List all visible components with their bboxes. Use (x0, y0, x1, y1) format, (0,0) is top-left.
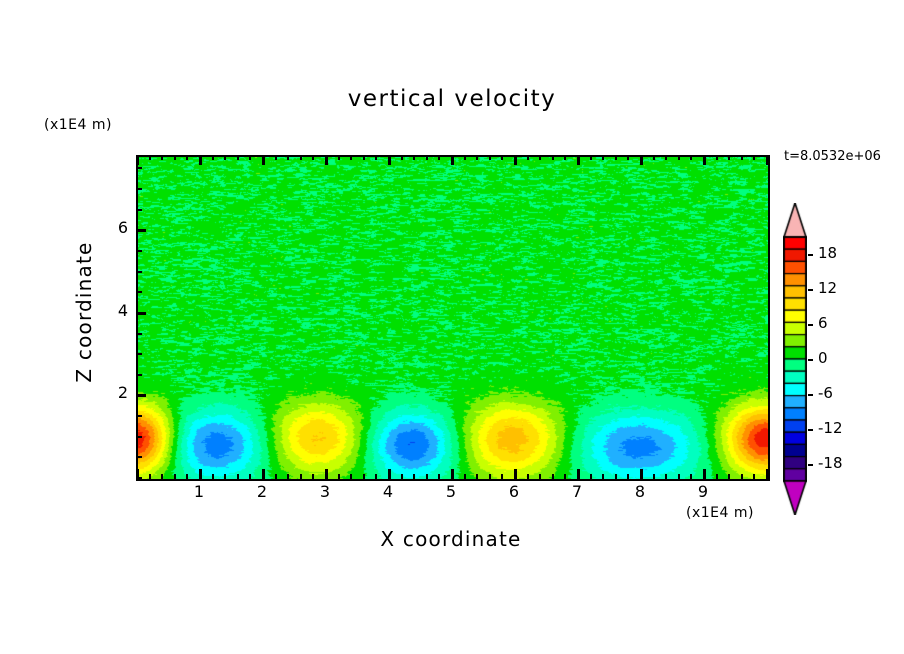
colorbar-ticklabel: 12 (818, 279, 837, 297)
timestamp-annotation: t=8.0532e+06 (784, 149, 881, 164)
x-minor-tick (401, 474, 403, 479)
x-ticklabel: 6 (499, 482, 529, 501)
y-axis-title: Z coordinate (72, 212, 96, 412)
x-minor-tick (690, 474, 692, 479)
x-minor-tick-top (552, 155, 554, 160)
x-minor-tick-top (413, 155, 415, 160)
colorbar-tick (808, 324, 813, 326)
x-major-tick-top (703, 155, 706, 165)
x-major-tick (325, 469, 328, 479)
x-major-tick (577, 469, 580, 479)
x-minor-tick (501, 474, 503, 479)
x-minor-tick (627, 474, 629, 479)
x-minor-tick (527, 474, 529, 479)
x-minor-tick (564, 474, 566, 479)
x-minor-tick-top (728, 155, 730, 160)
x-minor-tick-top (338, 155, 340, 160)
y-minor-tick (136, 353, 142, 355)
x-minor-tick-top (489, 155, 491, 160)
y-minor-tick (136, 477, 142, 479)
x-minor-tick (539, 474, 541, 479)
x-ticklabel: 7 (562, 482, 592, 501)
x-minor-tick-top (237, 155, 239, 160)
y-minor-tick (136, 250, 142, 252)
colorbar-tick (808, 289, 813, 291)
x-minor-tick-top (464, 155, 466, 160)
contour-field-canvas (138, 157, 768, 479)
y-minor-tick (136, 167, 142, 169)
x-minor-tick-top (426, 155, 428, 160)
y-major-tick (136, 312, 146, 315)
x-ticklabel: 2 (247, 482, 277, 501)
page-title: vertical velocity (0, 86, 904, 112)
x-minor-tick (375, 474, 377, 479)
x-ticklabel: 4 (373, 482, 403, 501)
x-minor-tick (224, 474, 226, 479)
x-minor-tick-top (287, 155, 289, 160)
y-minor-tick (136, 374, 142, 376)
x-major-tick-top (199, 155, 202, 165)
colorbar-tick (808, 394, 813, 396)
x-minor-tick (590, 474, 592, 479)
colorbar-tick (808, 464, 813, 466)
x-minor-tick-top (501, 155, 503, 160)
x-major-tick-top (640, 155, 643, 165)
x-minor-tick (287, 474, 289, 479)
x-minor-tick-top (476, 155, 478, 160)
x-minor-tick (426, 474, 428, 479)
contour-figure: vertical velocity (x1E4 m) (x1E4 m) t=8.… (0, 0, 904, 654)
y-minor-tick (136, 271, 142, 273)
colorbar-ticklabel: -12 (818, 419, 843, 437)
x-major-tick-top (514, 155, 517, 165)
x-minor-tick-top (300, 155, 302, 160)
colorbar-ticklabel: 0 (818, 349, 828, 367)
y-minor-tick (136, 333, 142, 335)
x-major-tick-top (577, 155, 580, 165)
x-minor-tick-top (753, 155, 755, 160)
x-minor-tick (665, 474, 667, 479)
colorbar-tick (808, 254, 813, 256)
y-minor-tick (136, 415, 142, 417)
x-major-tick (388, 469, 391, 479)
x-minor-tick-top (186, 155, 188, 160)
x-minor-tick (653, 474, 655, 479)
x-minor-tick (615, 474, 617, 479)
colorbar (783, 203, 807, 515)
x-minor-tick-top (653, 155, 655, 160)
x-minor-tick (237, 474, 239, 479)
x-major-tick-top (451, 155, 454, 165)
x-minor-tick-top (741, 155, 743, 160)
x-major-tick-top (325, 155, 328, 165)
x-minor-tick-top (438, 155, 440, 160)
x-minor-tick-top (539, 155, 541, 160)
plot-area (136, 155, 770, 481)
x-minor-tick-top (716, 155, 718, 160)
x-minor-tick (186, 474, 188, 479)
y-minor-tick (136, 291, 142, 293)
x-minor-tick-top (312, 155, 314, 160)
x-major-tick (451, 469, 454, 479)
x-minor-tick-top (527, 155, 529, 160)
x-axis-unit-label: (x1E4 m) (686, 505, 754, 521)
x-minor-tick-top (590, 155, 592, 160)
y-minor-tick (136, 188, 142, 190)
x-minor-tick (338, 474, 340, 479)
x-minor-tick-top (564, 155, 566, 160)
x-minor-tick (350, 474, 352, 479)
x-minor-tick (275, 474, 277, 479)
x-axis-title: X coordinate (136, 527, 766, 551)
x-minor-tick-top (690, 155, 692, 160)
x-minor-tick-top (401, 155, 403, 160)
x-minor-tick (716, 474, 718, 479)
x-minor-tick (552, 474, 554, 479)
y-ticklabel: 4 (104, 301, 128, 320)
colorbar-canvas (783, 203, 807, 515)
colorbar-ticklabel: 6 (818, 314, 828, 332)
x-minor-tick-top (275, 155, 277, 160)
x-minor-tick (602, 474, 604, 479)
x-ticklabel: 3 (310, 482, 340, 501)
x-minor-tick (149, 474, 151, 479)
y-ticklabel: 2 (104, 383, 128, 402)
x-minor-tick (678, 474, 680, 479)
x-major-tick (640, 469, 643, 479)
x-minor-tick-top (627, 155, 629, 160)
y-major-tick (136, 394, 146, 397)
x-minor-tick-top (249, 155, 251, 160)
x-minor-tick (476, 474, 478, 479)
y-minor-tick (136, 209, 142, 211)
y-minor-tick (136, 456, 142, 458)
x-minor-tick-top (678, 155, 680, 160)
x-minor-tick (438, 474, 440, 479)
x-minor-tick (489, 474, 491, 479)
y-axis-unit-label: (x1E4 m) (44, 117, 112, 133)
x-minor-tick-top (615, 155, 617, 160)
x-major-tick (766, 469, 769, 479)
x-minor-tick (728, 474, 730, 479)
x-minor-tick-top (665, 155, 667, 160)
x-minor-tick (249, 474, 251, 479)
x-minor-tick (212, 474, 214, 479)
x-major-tick (199, 469, 202, 479)
x-minor-tick (753, 474, 755, 479)
x-ticklabel: 8 (625, 482, 655, 501)
y-ticklabel: 6 (104, 218, 128, 237)
colorbar-ticklabel: 18 (818, 244, 837, 262)
x-ticklabel: 9 (688, 482, 718, 501)
x-minor-tick (300, 474, 302, 479)
y-minor-tick (136, 436, 142, 438)
x-minor-tick (464, 474, 466, 479)
x-minor-tick-top (224, 155, 226, 160)
x-minor-tick-top (602, 155, 604, 160)
x-minor-tick-top (149, 155, 151, 160)
x-major-tick (703, 469, 706, 479)
x-major-tick-top (136, 155, 139, 165)
x-minor-tick (312, 474, 314, 479)
x-major-tick (514, 469, 517, 479)
x-major-tick-top (262, 155, 265, 165)
x-minor-tick-top (375, 155, 377, 160)
x-minor-tick-top (161, 155, 163, 160)
colorbar-ticklabel: -6 (818, 384, 833, 402)
colorbar-ticklabel: -18 (818, 454, 843, 472)
x-ticklabel: 1 (184, 482, 214, 501)
x-major-tick-top (766, 155, 769, 165)
y-major-tick (136, 229, 146, 232)
x-major-tick-top (388, 155, 391, 165)
colorbar-tick (808, 359, 813, 361)
x-minor-tick (413, 474, 415, 479)
x-ticklabel: 5 (436, 482, 466, 501)
x-minor-tick (161, 474, 163, 479)
x-minor-tick-top (363, 155, 365, 160)
x-major-tick (262, 469, 265, 479)
x-minor-tick-top (212, 155, 214, 160)
x-minor-tick (741, 474, 743, 479)
x-minor-tick-top (174, 155, 176, 160)
x-minor-tick (174, 474, 176, 479)
x-minor-tick-top (350, 155, 352, 160)
x-minor-tick (363, 474, 365, 479)
colorbar-tick (808, 429, 813, 431)
